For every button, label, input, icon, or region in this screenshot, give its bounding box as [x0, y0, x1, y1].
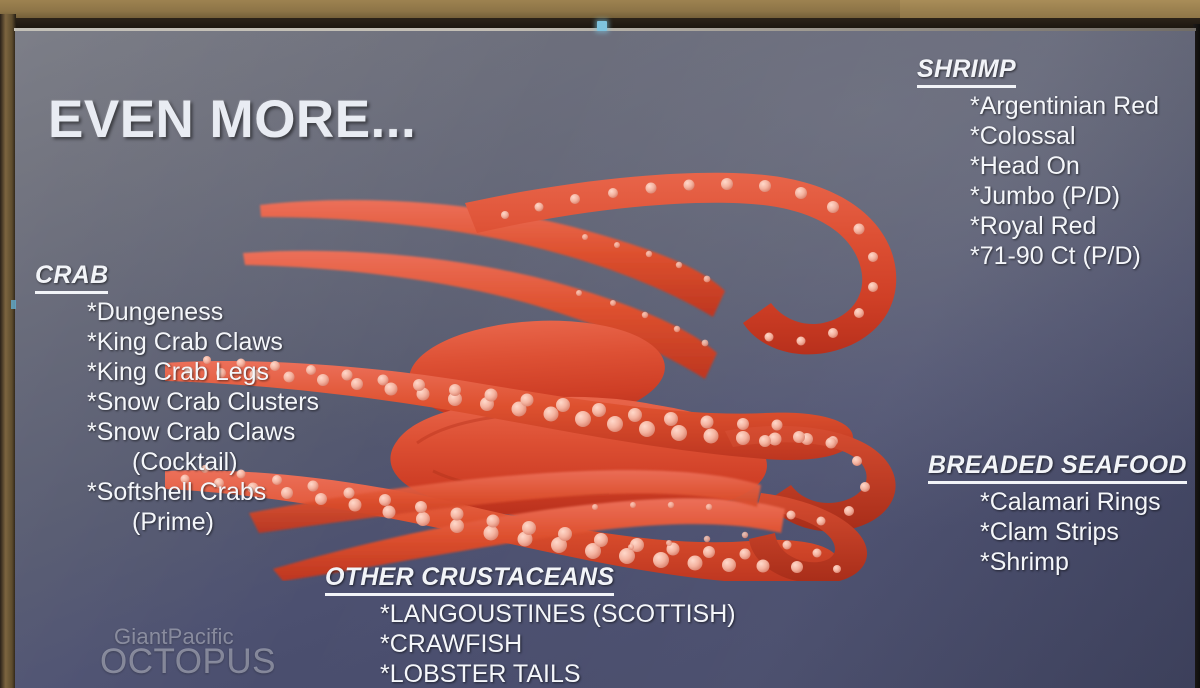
list-item: *LOBSTER TAILS: [380, 659, 736, 688]
brand-watermark: GiantPacific OCTOPUS: [100, 626, 276, 679]
section-other-crustaceans: OTHER CRUSTACEANS *LANGOUSTINES (SCOTTIS…: [325, 563, 736, 688]
list-item: *Snow Crab Claws: [87, 417, 319, 447]
power-led-indicator: [597, 21, 607, 31]
section-breaded-seafood: BREADED SEAFOOD *Calamari Rings *Clam St…: [928, 451, 1187, 577]
list-item: (Cocktail): [132, 447, 319, 477]
list-item: *Colossal: [970, 121, 1159, 151]
list-item: *Dungeness: [87, 297, 319, 327]
section-crab: CRAB *Dungeness *King Crab Claws *King C…: [35, 261, 319, 537]
list-breaded-seafood: *Calamari Rings *Clam Strips *Shrimp: [928, 487, 1187, 577]
list-shrimp: *Argentinian Red *Colossal *Head On *Jum…: [915, 91, 1159, 271]
section-shrimp: SHRIMP *Argentinian Red *Colossal *Head …: [915, 55, 1159, 271]
list-item: *Head On: [970, 151, 1159, 181]
list-item: *CRAWFISH: [380, 629, 736, 659]
section-heading-shrimp: SHRIMP: [917, 55, 1016, 88]
list-crab: *Dungeness *King Crab Claws *King Crab L…: [35, 297, 319, 537]
section-heading-breaded-seafood: BREADED SEAFOOD: [928, 451, 1187, 484]
list-item: *Calamari Rings: [980, 487, 1187, 517]
brand-name-line2: OCTOPUS: [100, 644, 276, 679]
list-item: *Argentinian Red: [970, 91, 1159, 121]
list-item: *Softshell Crabs: [87, 477, 319, 507]
section-heading-crab: CRAB: [35, 261, 108, 294]
list-other-crustaceans: *LANGOUSTINES (SCOTTISH) *CRAWFISH *LOBS…: [325, 599, 736, 688]
list-item: *Shrimp: [980, 547, 1187, 577]
list-item: *King Crab Legs: [87, 357, 319, 387]
monitor-bezel-left: [0, 14, 16, 688]
list-item: (Prime): [132, 507, 319, 537]
list-item: *Jumbo (P/D): [970, 181, 1159, 211]
list-item: *Snow Crab Clusters: [87, 387, 319, 417]
list-item: *King Crab Claws: [87, 327, 319, 357]
list-item: *LANGOUSTINES (SCOTTISH): [380, 599, 736, 629]
page-title: EVEN MORE...: [48, 89, 416, 150]
side-led-indicator: [11, 300, 16, 309]
slide-screen: EVEN MORE... CRAB *Dungeness *King Crab …: [15, 31, 1195, 688]
list-item: *71-90 Ct (P/D): [970, 241, 1159, 271]
photographed-display: EVEN MORE... CRAB *Dungeness *King Crab …: [0, 0, 1200, 688]
section-heading-other-crustaceans: OTHER CRUSTACEANS: [325, 563, 614, 596]
list-item: *Royal Red: [970, 211, 1159, 241]
list-item: *Clam Strips: [980, 517, 1187, 547]
